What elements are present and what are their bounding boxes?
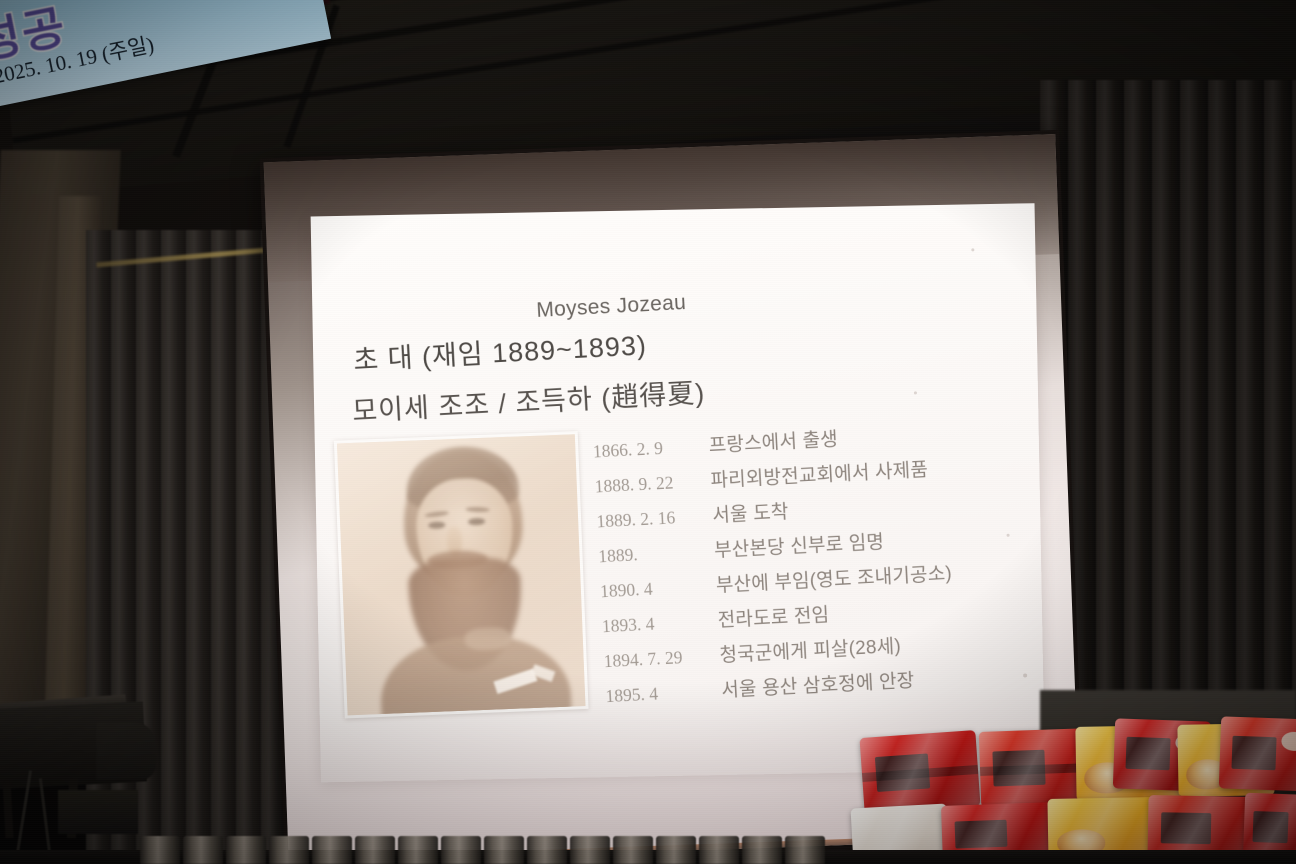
beverage-can <box>226 836 266 864</box>
beverage-can <box>140 836 180 864</box>
timeline-date: 1889. <box>598 540 715 567</box>
snack-pack-stack <box>852 712 1296 864</box>
slide-heading-korean-line1: 초 대 (재임 1889~1893) <box>352 323 647 378</box>
timeline-date: 1889. 2. 16 <box>596 505 713 532</box>
screen-dust-speck <box>1007 534 1010 537</box>
piano-bench <box>58 790 138 834</box>
timeline-event: 프랑스에서 출생 <box>708 424 838 458</box>
screen-dust-speck <box>1023 673 1027 677</box>
timeline-date: 1888. 9. 22 <box>594 471 711 498</box>
timeline-event: 전라도로 전임 <box>717 600 830 633</box>
portrait-photo <box>337 434 585 715</box>
timeline-date: 1894. 7. 29 <box>603 645 720 672</box>
beverage-can <box>527 836 567 864</box>
beverage-can <box>656 836 696 864</box>
can-row <box>140 832 840 864</box>
screen-dust-speck <box>971 248 974 251</box>
screen-dust-speck <box>914 391 917 394</box>
beverage-can <box>570 836 610 864</box>
slide-heading-korean-line2: 모이세 조조 / 조득하 (趙得夏) <box>351 371 706 429</box>
beverage-can <box>312 836 352 864</box>
beverage-can <box>699 836 739 864</box>
timeline-date: 1890. 4 <box>600 575 717 602</box>
beverage-can <box>742 836 782 864</box>
timeline-event: 서울 도착 <box>712 497 789 528</box>
beverage-can <box>441 836 481 864</box>
slide-heading-latin: Moyses Jozeau <box>536 291 687 323</box>
beverage-can <box>785 836 825 864</box>
beverage-can <box>398 836 438 864</box>
timeline-date: 1893. 4 <box>601 610 718 637</box>
beverage-can <box>484 836 524 864</box>
slide-timeline-list: 1866. 2. 9 프랑스에서 출생 1888. 9. 22 파리외방전교회에… <box>592 414 1036 716</box>
portrait-photo-frame <box>334 431 589 718</box>
timeline-date: 1866. 2. 9 <box>592 436 709 463</box>
beverage-can <box>269 836 309 864</box>
noodle-pack <box>1219 716 1296 791</box>
portrait-fade-overlay <box>337 434 585 715</box>
noodle-pack <box>859 730 980 814</box>
beverage-can <box>183 836 223 864</box>
photo-scene: 성공 2025. 10. 19 (주일) Moyses Jozeau 초 대 (… <box>0 0 1296 864</box>
beverage-can <box>613 836 653 864</box>
beverage-can <box>355 836 395 864</box>
piano-tail <box>96 722 156 780</box>
